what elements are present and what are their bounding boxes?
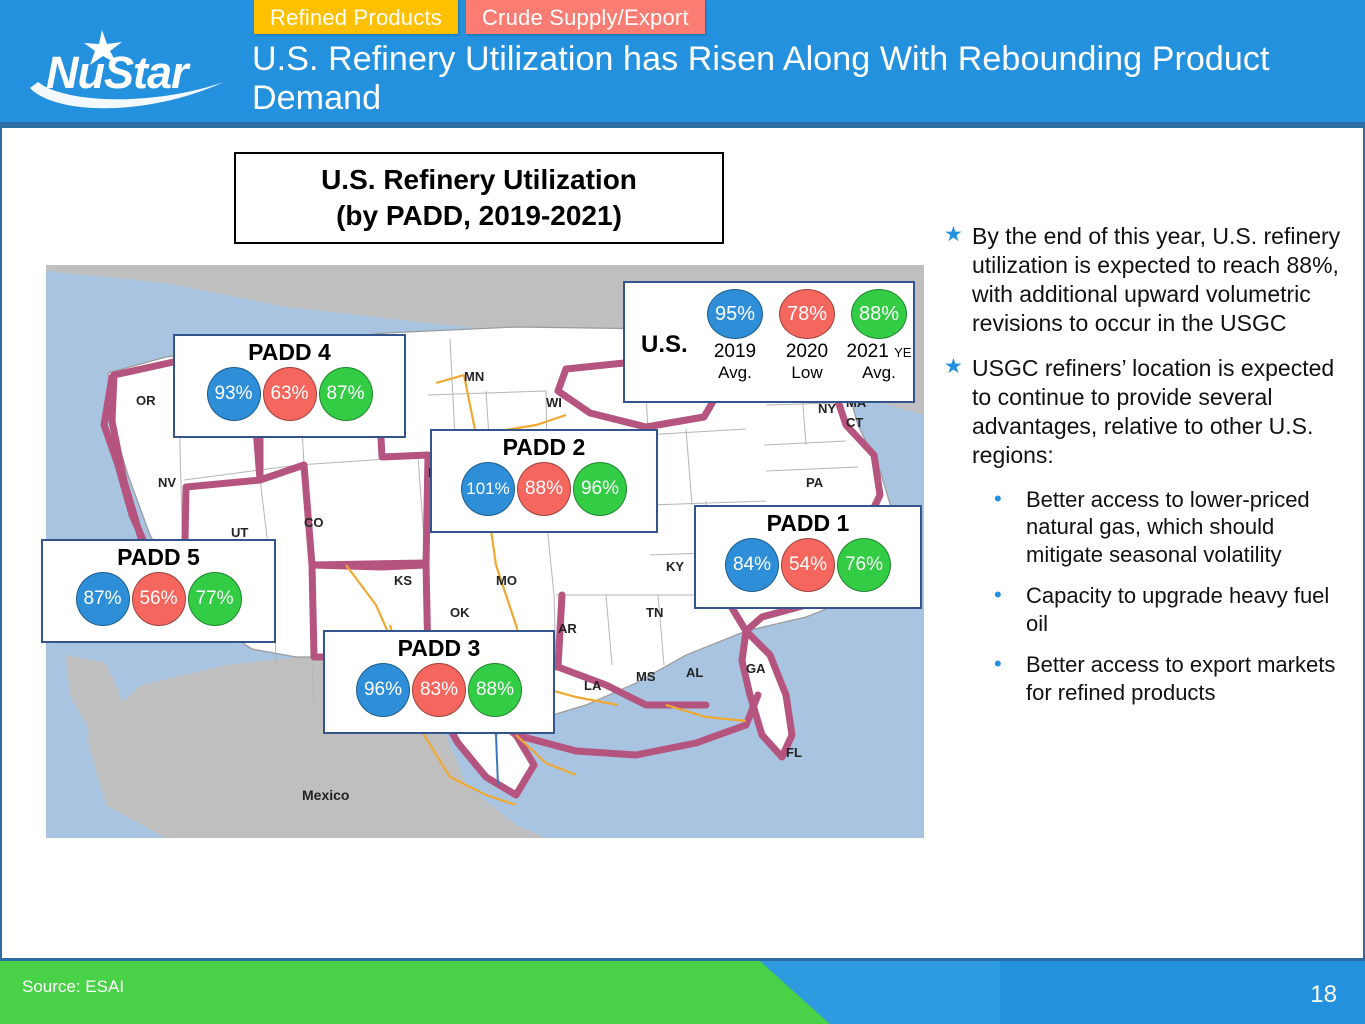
padd-4-value-2021: 87% <box>319 367 373 421</box>
padd-1-title: PADD 1 <box>767 511 850 536</box>
padd-1-value-2019: 84% <box>725 538 779 592</box>
chart-title-line1: U.S. Refinery Utilization <box>321 162 637 198</box>
bullet-dot-icon: • <box>994 486 1026 512</box>
us-year-2021: 2021 YE <box>847 341 912 363</box>
bullet-dot-icon: • <box>994 582 1026 608</box>
bullet-dot-icon: • <box>994 651 1026 677</box>
country-label-mexico: Mexico <box>302 787 349 803</box>
padd-2-value-2020: 88% <box>517 462 571 516</box>
tab-refined-products-label: Refined Products <box>270 5 442 31</box>
bullet-1-text: By the end of this year, U.S. refinery u… <box>972 222 1348 338</box>
svg-text:NuStar: NuStar <box>46 47 191 98</box>
padd-3-title: PADD 3 <box>398 636 481 661</box>
padd-3-value-2021: 88% <box>468 663 522 717</box>
padd-5-value-2021: 77% <box>188 572 242 626</box>
padd-3-value-2019: 96% <box>356 663 410 717</box>
padd-2-value-2019: 101% <box>461 462 515 516</box>
padd-4-box: PADD 4 93% 63% 87% <box>173 334 406 438</box>
us-sub-2019: Avg. <box>718 363 752 383</box>
padd-5-value-2019: 87% <box>76 572 130 626</box>
padd-5-value-2020: 56% <box>132 572 186 626</box>
us-bubble-2020: 78% <box>779 289 835 339</box>
us-bubble-2019: 95% <box>707 289 763 339</box>
us-year-2020: 2020 <box>786 341 828 363</box>
header-divider <box>0 122 1365 128</box>
footer-graphic <box>0 961 1365 1024</box>
sub-bullet-item-2: • Capacity to upgrade heavy fuel oil <box>994 582 1348 637</box>
sub-bullet-item-3: • Better access to export markets for re… <box>994 651 1348 706</box>
slide-title: U.S. Refinery Utilization has Risen Alon… <box>252 40 1312 118</box>
padd-2-title: PADD 2 <box>503 435 586 460</box>
padd-4-value-2019: 93% <box>207 367 261 421</box>
padd-3-box: PADD 3 96% 83% 88% <box>323 630 555 734</box>
sub-bullet-2-text: Capacity to upgrade heavy fuel oil <box>1026 582 1348 637</box>
slide-header: NuStar Refined Products Crude Supply/Exp… <box>0 0 1365 122</box>
sub-bullet-list: • Better access to lower-priced natural … <box>994 486 1348 707</box>
padd-4-value-2020: 63% <box>263 367 317 421</box>
chart-title-line2: (by PADD, 2019-2021) <box>336 198 622 234</box>
bullet-2-text: USGC refiners’ location is expected to c… <box>972 354 1348 470</box>
slide-footer: Source: ESAI 18 <box>0 961 1365 1024</box>
padd-2-box: PADD 2 101% 88% 96% <box>430 429 658 533</box>
us-sub-2021: Avg. <box>862 363 896 383</box>
source-label: Source: ESAI <box>22 977 124 997</box>
padd-1-box: PADD 1 84% 54% 76% <box>694 505 922 609</box>
sub-bullet-1-text: Better access to lower-priced natural ga… <box>1026 486 1348 569</box>
star-icon: ★ <box>944 354 972 380</box>
us-col-2019: 95% 2019 Avg. <box>703 289 767 383</box>
bullet-item-1: ★ By the end of this year, U.S. refinery… <box>944 222 1348 338</box>
us-ye-tag: YE <box>894 345 911 360</box>
chart-title-box: U.S. Refinery Utilization (by PADD, 2019… <box>234 152 724 244</box>
padd-3-value-2020: 83% <box>412 663 466 717</box>
padd-1-value-2020: 54% <box>781 538 835 592</box>
padd-1-value-2021: 76% <box>837 538 891 592</box>
us-col-2021: 88% 2021 YE Avg. <box>847 289 911 383</box>
commentary-panel: ★ By the end of this year, U.S. refinery… <box>944 222 1348 720</box>
us-year-2019: 2019 <box>714 341 756 363</box>
padd-4-title: PADD 4 <box>248 340 331 365</box>
us-sub-2020: Low <box>791 363 822 383</box>
star-icon: ★ <box>944 222 972 248</box>
sub-bullet-3-text: Better access to export markets for refi… <box>1026 651 1348 706</box>
page-number: 18 <box>1310 981 1337 1009</box>
us-bubble-2021: 88% <box>851 289 907 339</box>
padd-2-value-2021: 96% <box>573 462 627 516</box>
tab-refined-products[interactable]: Refined Products <box>254 0 458 34</box>
tab-crude-supply-export[interactable]: Crude Supply/Export <box>466 0 705 34</box>
us-col-2020: 78% 2020 Low <box>775 289 839 383</box>
sub-bullet-item-1: • Better access to lower-priced natural … <box>994 486 1348 569</box>
us-label: U.S. <box>641 331 688 359</box>
tab-crude-supply-export-label: Crude Supply/Export <box>482 5 689 31</box>
bullet-item-2: ★ USGC refiners’ location is expected to… <box>944 354 1348 470</box>
category-tabs[interactable]: Refined Products Crude Supply/Export <box>254 0 705 34</box>
us-summary-box: U.S. 95% 2019 Avg. 78% 2020 Low 88% 2021… <box>623 281 915 403</box>
padd-5-title: PADD 5 <box>117 545 200 570</box>
nustar-logo: NuStar <box>24 26 234 118</box>
padd-5-box: PADD 5 87% 56% 77% <box>41 539 276 643</box>
